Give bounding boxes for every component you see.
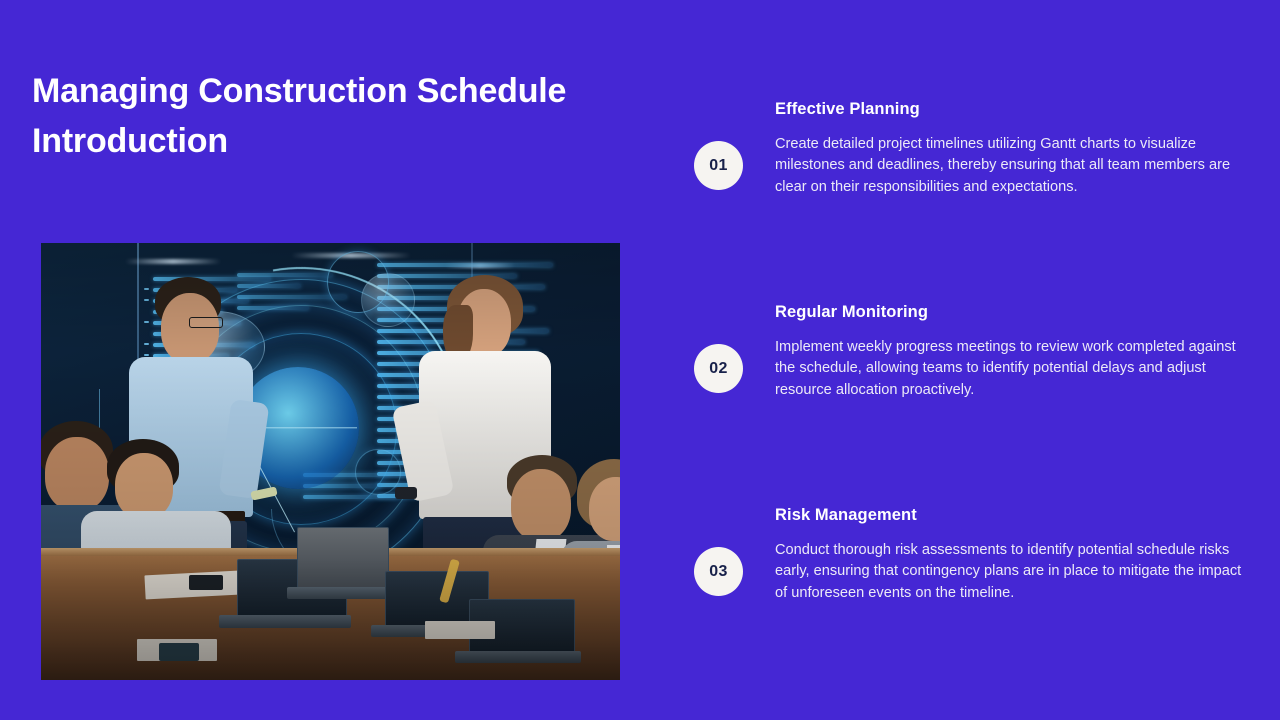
seated-wl-head [115,453,173,519]
point-description-01: Create detailed project timelines utiliz… [775,134,1254,198]
seated-mr-head [511,469,571,541]
laptop-far-right [455,599,581,679]
list-item-03: 03 Risk Management Conduct thorough risk… [694,506,1254,666]
photo-scene [41,243,620,680]
point-title-02: Regular Monitoring [775,303,1254,322]
paper-sheet-right [425,621,495,639]
point-number-badge-01: 01 [694,141,743,190]
point-description-02: Implement weekly progress meetings to re… [775,337,1254,401]
point-body-01: Effective Planning Create detailed proje… [775,100,1254,198]
ceiling-light-1 [125,259,221,264]
point-title-01: Effective Planning [775,100,1254,119]
list-item-01: 01 Effective Planning Create detailed pr… [694,100,1254,260]
standing-man-head [161,293,219,363]
list-item-02: 02 Regular Monitoring Implement weekly p… [694,303,1254,463]
standing-man-glasses [189,317,223,328]
hud-dial-right [355,449,401,495]
page-title: Managing Construction Schedule Introduct… [32,66,652,167]
point-description-03: Conduct thorough risk assessments to ide… [775,540,1254,604]
point-number-badge-03: 03 [694,547,743,596]
standing-woman-watch [395,487,417,499]
slide-canvas: Managing Construction Schedule Introduct… [0,0,1280,720]
point-body-02: Regular Monitoring Implement weekly prog… [775,303,1254,401]
meeting-photo [41,243,620,680]
phone-front [159,643,199,661]
point-number-badge-02: 02 [694,344,743,393]
key-points-list: 01 Effective Planning Create detailed pr… [694,100,1254,666]
phone-left [189,575,223,590]
point-body-03: Risk Management Conduct thorough risk as… [775,506,1254,604]
hud-dial-top [327,251,389,313]
point-title-03: Risk Management [775,506,1254,525]
